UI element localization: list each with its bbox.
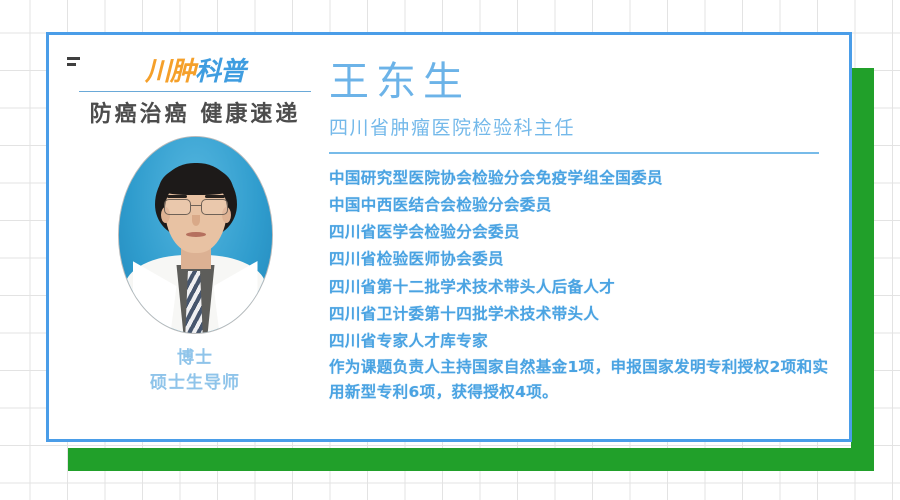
- glasses-lens-left: [164, 199, 191, 215]
- portrait-eyebrow-left: [167, 195, 187, 198]
- brand-logo-part-a: 川肿: [145, 57, 195, 87]
- green-accent-bar-right: [851, 68, 874, 471]
- list-item: 四川省检验医师协会委员: [329, 246, 841, 273]
- brand-logo: 川肿科普: [55, 59, 335, 85]
- glasses-icon: [163, 199, 229, 214]
- profile-card: 川肿科普 防癌治癌 健康速递: [46, 32, 852, 442]
- portrait-mouth: [186, 232, 206, 237]
- list-item: 中国研究型医院协会检验分会免疫学组全国委员: [329, 165, 841, 192]
- degree-caption: 博士 硕士生导师: [55, 346, 335, 395]
- slide-canvas: 川肿科普 防癌治癌 健康速递: [0, 0, 900, 500]
- degree-line-1: 博士: [55, 346, 335, 371]
- credential-list: 中国研究型医院协会检验分会免疫学组全国委员 中国中西医结合会检验分会委员 四川省…: [329, 165, 841, 405]
- list-item: 四川省专家人才库专家: [329, 328, 841, 355]
- doctor-position: 四川省肿瘤医院检验科主任: [329, 113, 841, 140]
- list-item: 四川省医学会检验分会委员: [329, 219, 841, 246]
- portrait-eyebrow-right: [205, 195, 225, 198]
- portrait-nose: [192, 215, 200, 226]
- brand-logo-part-b: 科普: [195, 57, 245, 87]
- brand-divider: [79, 91, 311, 92]
- title-divider: [329, 152, 819, 154]
- list-item: 四川省卫计委第十四批学术技术带头人: [329, 301, 841, 328]
- degree-line-2: 硕士生导师: [55, 371, 335, 396]
- list-item: 作为课题负责人主持国家自然基金1项，申报国家发明专利授权2项和实用新型专利6项，…: [329, 355, 841, 405]
- brand-tagline: 防癌治癌 健康速递: [55, 96, 335, 128]
- glasses-lens-right: [201, 199, 228, 215]
- page-title: 王东生: [329, 59, 841, 105]
- list-item: 四川省第十二批学术技术带头人后备人才: [329, 274, 841, 301]
- glasses-bridge: [190, 205, 202, 206]
- right-column: 王东生 四川省肿瘤医院检验科主任 中国研究型医院协会检验分会免疫学组全国委员 中…: [329, 53, 841, 421]
- avatar: [118, 136, 273, 334]
- list-item: 中国中西医结合会检验分会委员: [329, 192, 841, 219]
- left-column: 川肿科普 防癌治癌 健康速递: [55, 45, 335, 395]
- green-accent-bar-bottom: [68, 448, 874, 471]
